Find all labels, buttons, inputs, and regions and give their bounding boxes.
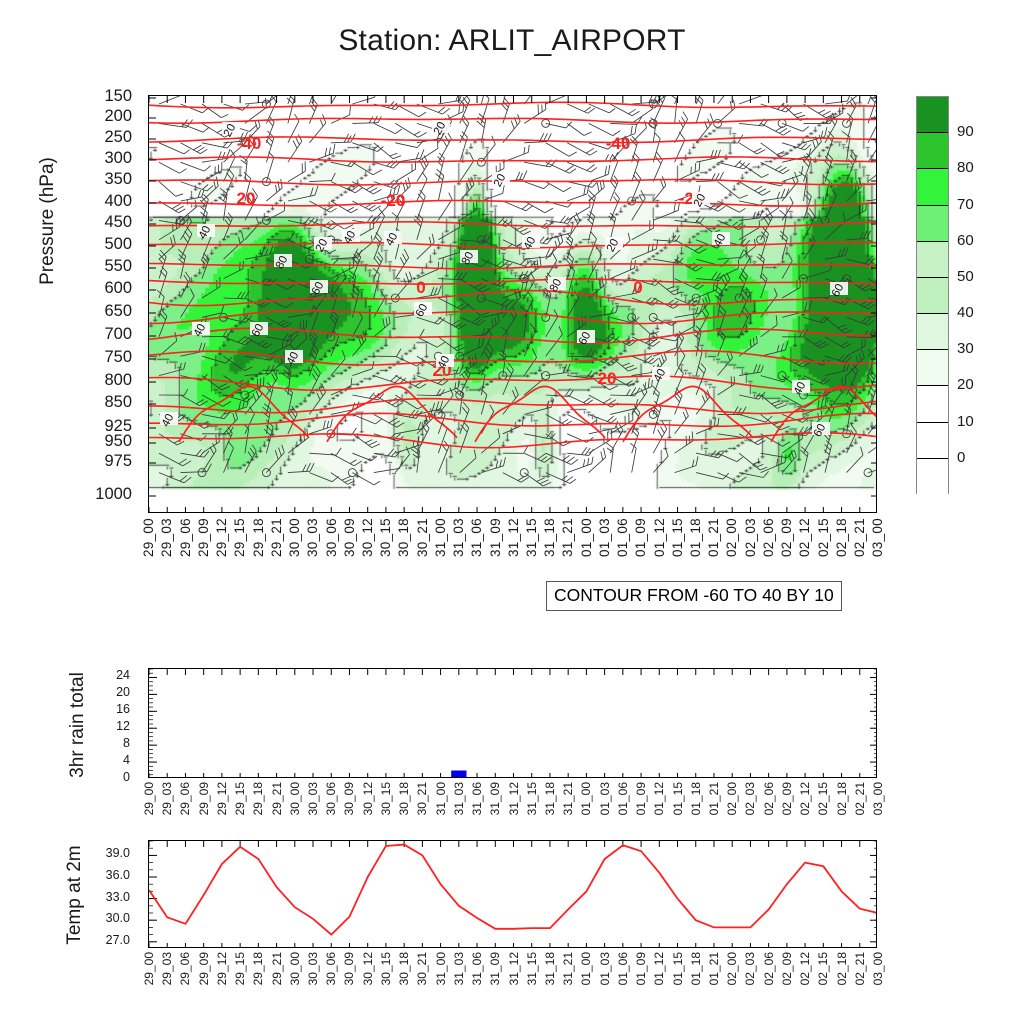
main-x-tick: 02_06 <box>761 518 776 557</box>
rain-x-tick: 30_00 <box>288 782 302 815</box>
temp-x-tick: 30_06 <box>324 952 338 985</box>
main-x-tick: 01_18 <box>688 518 703 557</box>
rain-x-tick: 31_18 <box>543 782 557 815</box>
rain-y-tick: 20 <box>116 685 130 699</box>
figure-root: Station: ARLIT_AIRPORT Pressure (hPa) 15… <box>0 0 1024 1024</box>
rain-x-tick: 29_12 <box>215 782 229 815</box>
rain-x-tick: 30_09 <box>342 782 356 815</box>
temp-x-tick: 31_18 <box>543 952 557 985</box>
temp-x-tick: 01_06 <box>616 952 630 985</box>
colorbar-swatch <box>917 350 948 386</box>
svg-text:20: 20 <box>598 369 617 388</box>
colorbar-tick-labels: 9080706050403020100 <box>957 96 1017 494</box>
colorbar-tick: 10 <box>957 413 974 430</box>
temp-x-tick: 30_00 <box>288 952 302 985</box>
rain-y-tick: 16 <box>116 702 130 716</box>
temp-x-tick: 01_21 <box>707 952 721 985</box>
temp-x-tick: 29_09 <box>197 952 211 985</box>
colorbar-swatch <box>917 97 948 133</box>
main-y-tick: 600 <box>104 279 132 298</box>
main-y-tick: 150 <box>104 87 132 106</box>
main-x-tick: 29_03 <box>159 518 174 557</box>
rain-x-tick: 29_03 <box>160 782 174 815</box>
main-x-tick: 03_00 <box>870 518 885 557</box>
temp-x-tick: 31_03 <box>452 952 466 985</box>
temp-y-tick: 30.0 <box>106 911 130 925</box>
temp-x-tick: 02_09 <box>780 952 794 985</box>
main-y-tick-labels: 1502002503003504004505005506006507007508… <box>60 95 142 513</box>
main-x-tick: 30_21 <box>415 518 430 557</box>
rain-x-tick: 02_12 <box>798 782 812 815</box>
rain-x-tick: 31_03 <box>452 782 466 815</box>
main-x-tick: 01_21 <box>706 518 721 557</box>
temp-x-tick: 31_21 <box>561 952 575 985</box>
main-x-tick: 02_18 <box>834 518 849 557</box>
temp-x-tick: 31_00 <box>434 952 448 985</box>
rain-x-tick: 01_21 <box>707 782 721 815</box>
main-x-tick: 31_18 <box>542 518 557 557</box>
temp-x-tick: 30_12 <box>361 952 375 985</box>
temp-x-tick: 02_15 <box>816 952 830 985</box>
main-x-tick: 30_15 <box>378 518 393 557</box>
rain-y-tick: 0 <box>123 770 130 784</box>
temp-x-tick: 01_15 <box>671 952 685 985</box>
rain-x-tick: 01_09 <box>634 782 648 815</box>
temp-x-tick: 29_06 <box>178 952 192 985</box>
main-x-tick: 02_03 <box>743 518 758 557</box>
colorbar-tick: 20 <box>957 376 974 393</box>
colorbar-swatch <box>917 423 948 459</box>
colorbar-swatch <box>917 386 948 422</box>
main-x-tick: 31_00 <box>433 518 448 557</box>
temp-x-tick: 31_06 <box>470 952 484 985</box>
temp-x-tick: 29_18 <box>251 952 265 985</box>
rain-x-tick: 02_15 <box>816 782 830 815</box>
colorbar-tick: 50 <box>957 268 974 285</box>
temp-x-tick: 29_03 <box>160 952 174 985</box>
temp-x-tick: 29_21 <box>270 952 284 985</box>
rain-x-tick: 29_21 <box>270 782 284 815</box>
temp-x-tick: 02_06 <box>762 952 776 985</box>
rain-x-tick: 01_00 <box>579 782 593 815</box>
temp-x-tick: 01_03 <box>598 952 612 985</box>
rain-x-tick: 01_18 <box>689 782 703 815</box>
main-x-tick: 30_03 <box>305 518 320 557</box>
temp-x-tick: 01_12 <box>652 952 666 985</box>
colorbar-swatch <box>917 133 948 169</box>
rain-x-tick: 29_18 <box>251 782 265 815</box>
humidity-colorbar[interactable] <box>916 96 949 494</box>
rain-y-tick: 12 <box>116 719 130 733</box>
main-x-tick: 02_09 <box>779 518 794 557</box>
rain-x-tick: 01_03 <box>598 782 612 815</box>
main-y-tick: 975 <box>104 452 132 471</box>
svg-text:-40: -40 <box>237 134 262 153</box>
colorbar-tick: 40 <box>957 304 974 321</box>
main-y-tick: 450 <box>104 213 132 232</box>
temp-line-layer <box>149 841 877 948</box>
contours-and-barbs-layer: -40-40-20-200020202020202020202040404040… <box>149 96 877 513</box>
rain-y-tick: 4 <box>123 753 130 767</box>
main-x-tick: 29_21 <box>269 518 284 557</box>
colorbar-tick: 80 <box>957 159 974 176</box>
main-x-tick: 30_12 <box>360 518 375 557</box>
rain-x-tick: 03_00 <box>871 782 885 815</box>
main-x-tick: 30_06 <box>324 518 339 557</box>
temp-x-tick: 02_21 <box>853 952 867 985</box>
temp-x-tick-labels: 29_0029_0329_0629_0929_1229_1529_1829_21… <box>148 952 877 1008</box>
rain-y-tick: 24 <box>116 668 130 682</box>
rain-x-tick: 29_06 <box>178 782 192 815</box>
rain-y-tick: 8 <box>123 736 130 750</box>
main-y-tick: 950 <box>104 432 132 451</box>
rain-x-tick: 29_00 <box>142 782 156 815</box>
rain-x-tick: 02_06 <box>762 782 776 815</box>
colorbar-swatch <box>917 314 948 350</box>
rain-x-tick: 30_03 <box>306 782 320 815</box>
rain-x-tick: 30_18 <box>397 782 411 815</box>
main-x-tick: 30_00 <box>287 518 302 557</box>
rain-x-tick: 02_09 <box>780 782 794 815</box>
contour-range-note: CONTOUR FROM -60 TO 40 BY 10 <box>546 581 842 611</box>
rain-x-tick: 02_18 <box>835 782 849 815</box>
main-y-tick: 850 <box>104 393 132 412</box>
temp-y-tick: 36.0 <box>106 868 130 882</box>
temp-x-tick: 30_15 <box>379 952 393 985</box>
temp-x-tick: 31_12 <box>507 952 521 985</box>
temp-x-tick: 01_09 <box>634 952 648 985</box>
main-y-tick: 200 <box>104 107 132 126</box>
main-x-tick: 29_00 <box>141 518 156 557</box>
colorbar-swatch <box>917 459 948 495</box>
main-x-tick: 29_12 <box>214 518 229 557</box>
main-y-tick: 250 <box>104 128 132 147</box>
colorbar-swatch <box>917 278 948 314</box>
main-y-tick: 350 <box>104 170 132 189</box>
svg-text:-40: -40 <box>606 134 631 153</box>
rain-x-tick: 01_12 <box>652 782 666 815</box>
temp-x-tick: 02_00 <box>725 952 739 985</box>
temp-y-tick: 27.0 <box>106 933 130 947</box>
temp-x-tick: 01_00 <box>579 952 593 985</box>
rain-y-axis-label: 3hr rain total <box>67 625 89 825</box>
main-y-tick: 700 <box>104 325 132 344</box>
main-y-axis-label: Pressure (hPa) <box>37 111 59 331</box>
main-x-tick: 02_21 <box>852 518 867 557</box>
main-y-tick: 1000 <box>95 485 132 504</box>
svg-text:-20: -20 <box>381 191 406 210</box>
temp-x-tick: 29_15 <box>233 952 247 985</box>
main-x-tick: 01_03 <box>597 518 612 557</box>
main-x-tick: 29_06 <box>178 518 193 557</box>
main-x-tick-labels: 29_0029_0329_0629_0929_1229_1529_1829_21… <box>148 518 877 578</box>
temp-x-tick: 30_21 <box>415 952 429 985</box>
main-y-tick: 650 <box>104 302 132 321</box>
main-x-tick: 31_06 <box>469 518 484 557</box>
temperature-line-chart[interactable] <box>148 840 877 948</box>
colorbar-swatch <box>917 206 948 242</box>
main-x-tick: 02_12 <box>797 518 812 557</box>
main-x-tick: 02_00 <box>724 518 739 557</box>
main-x-tick: 01_12 <box>652 518 667 557</box>
main-x-tick: 29_15 <box>232 518 247 557</box>
temp-x-tick: 02_18 <box>835 952 849 985</box>
temp-y-tick-labels: 39.036.033.030.027.0 <box>78 840 140 948</box>
rain-x-tick: 01_15 <box>671 782 685 815</box>
temp-x-tick: 31_09 <box>488 952 502 985</box>
main-x-tick: 31_12 <box>506 518 521 557</box>
temp-x-tick: 30_09 <box>342 952 356 985</box>
main-y-tick: 500 <box>104 235 132 254</box>
rain-x-tick: 02_00 <box>725 782 739 815</box>
colorbar-tick: 60 <box>957 232 974 249</box>
rain-y-tick-labels: 24201612840 <box>88 668 140 778</box>
temp-x-tick: 30_03 <box>306 952 320 985</box>
temp-x-tick: 30_18 <box>397 952 411 985</box>
rain-x-tick-labels: 29_0029_0329_0629_0929_1229_1529_1829_21… <box>148 782 877 838</box>
rain-x-tick: 31_15 <box>525 782 539 815</box>
main-x-tick: 01_06 <box>615 518 630 557</box>
svg-text:0: 0 <box>633 278 642 297</box>
main-y-tick: 400 <box>104 192 132 211</box>
main-y-tick: 800 <box>104 371 132 390</box>
rain-bar-chart[interactable] <box>148 668 877 778</box>
rain-x-tick: 31_12 <box>507 782 521 815</box>
rain-x-tick: 29_09 <box>197 782 211 815</box>
main-x-tick: 29_18 <box>251 518 266 557</box>
rain-x-tick: 02_21 <box>853 782 867 815</box>
rain-x-tick: 30_12 <box>361 782 375 815</box>
temp-x-tick: 02_03 <box>743 952 757 985</box>
rain-x-tick: 01_06 <box>616 782 630 815</box>
temp-x-tick: 01_18 <box>689 952 703 985</box>
colorbar-swatch <box>917 169 948 205</box>
colorbar-swatch <box>917 242 948 278</box>
rain-bars-layer <box>149 669 877 778</box>
svg-text:20: 20 <box>237 189 256 208</box>
temp-x-tick: 29_12 <box>215 952 229 985</box>
rain-x-tick: 02_03 <box>743 782 757 815</box>
main-x-tick: 30_18 <box>396 518 411 557</box>
temp-x-tick: 29_00 <box>142 952 156 985</box>
temp-x-tick: 03_00 <box>871 952 885 985</box>
main-y-tick: 750 <box>104 348 132 367</box>
main-x-tick: 31_21 <box>560 518 575 557</box>
main-x-tick: 31_09 <box>488 518 503 557</box>
svg-text:0: 0 <box>416 278 425 297</box>
colorbar-tick: 30 <box>957 340 974 357</box>
main-y-tick: 300 <box>104 149 132 168</box>
main-x-tick: 01_09 <box>633 518 648 557</box>
rain-x-tick: 31_00 <box>434 782 448 815</box>
main-x-tick: 01_15 <box>670 518 685 557</box>
main-x-tick: 01_00 <box>579 518 594 557</box>
rain-x-tick: 31_09 <box>488 782 502 815</box>
colorbar-tick: 70 <box>957 196 974 213</box>
main-x-tick: 02_15 <box>816 518 831 557</box>
main-y-tick: 550 <box>104 257 132 276</box>
main-x-tick: 31_03 <box>451 518 466 557</box>
rain-x-tick: 31_21 <box>561 782 575 815</box>
temp-x-tick: 02_12 <box>798 952 812 985</box>
rain-x-tick: 30_06 <box>324 782 338 815</box>
temp-y-tick: 39.0 <box>106 846 130 860</box>
time-height-cross-section-plot[interactable]: -40-40-20-200020202020202020202040404040… <box>148 95 877 513</box>
main-x-tick: 29_09 <box>196 518 211 557</box>
temp-x-tick: 31_15 <box>525 952 539 985</box>
colorbar-tick: 0 <box>957 449 965 466</box>
rain-x-tick: 29_15 <box>233 782 247 815</box>
main-x-tick: 30_09 <box>342 518 357 557</box>
rain-x-tick: 30_21 <box>415 782 429 815</box>
main-x-tick: 31_15 <box>524 518 539 557</box>
rain-x-tick: 31_06 <box>470 782 484 815</box>
rain-x-tick: 30_15 <box>379 782 393 815</box>
page-title: Station: ARLIT_AIRPORT <box>0 24 1024 58</box>
temp-y-tick: 33.0 <box>106 890 130 904</box>
colorbar-tick: 90 <box>957 123 974 140</box>
